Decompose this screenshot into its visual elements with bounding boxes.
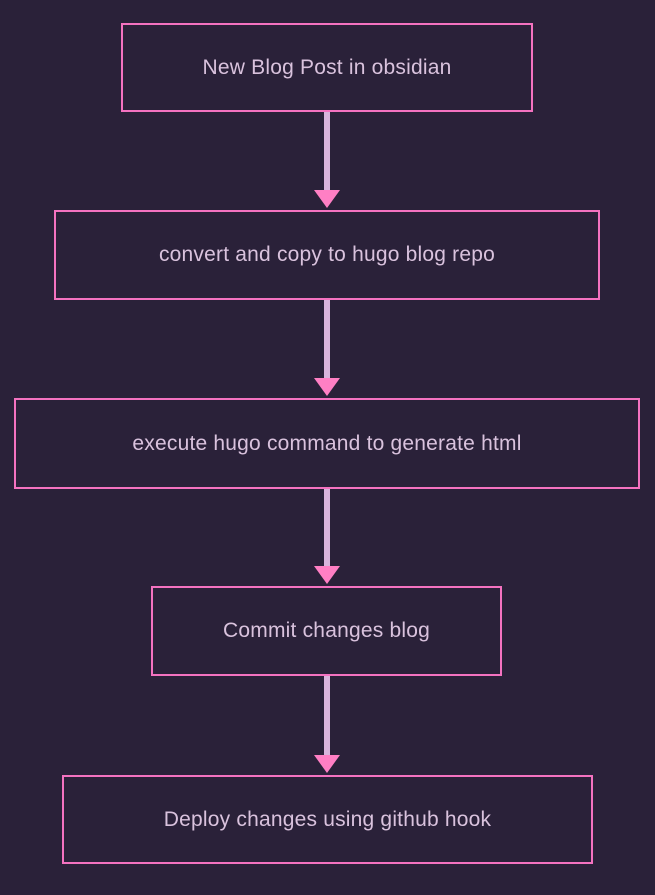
edge-convert-copy-to-execute-hugo <box>314 300 340 396</box>
edge-new-blog-post-to-convert-copy <box>314 112 340 208</box>
flowchart-node-label: Deploy changes using github hook <box>164 807 491 832</box>
flowchart-node-label: New Blog Post in obsidian <box>203 55 452 80</box>
flowchart-node-label: Commit changes blog <box>223 618 430 643</box>
flowchart-node-deploy-changes[interactable]: Deploy changes using github hook <box>62 775 593 864</box>
flowchart-canvas: New Blog Post in obsidian convert and co… <box>0 0 655 895</box>
flowchart-node-label: convert and copy to hugo blog repo <box>159 242 495 267</box>
edge-arrowhead-icon <box>314 755 340 773</box>
flowchart-node-label: execute hugo command to generate html <box>132 431 521 456</box>
flowchart-node-execute-hugo[interactable]: execute hugo command to generate html <box>14 398 640 489</box>
edge-arrowhead-icon <box>314 566 340 584</box>
edge-commit-changes-to-deploy-changes <box>314 676 340 773</box>
flowchart-node-new-blog-post[interactable]: New Blog Post in obsidian <box>121 23 533 112</box>
edge-arrowhead-icon <box>314 378 340 396</box>
flowchart-node-commit-changes[interactable]: Commit changes blog <box>151 586 502 676</box>
flowchart-node-convert-copy[interactable]: convert and copy to hugo blog repo <box>54 210 600 300</box>
edge-arrowhead-icon <box>314 190 340 208</box>
edge-execute-hugo-to-commit-changes <box>314 489 340 584</box>
